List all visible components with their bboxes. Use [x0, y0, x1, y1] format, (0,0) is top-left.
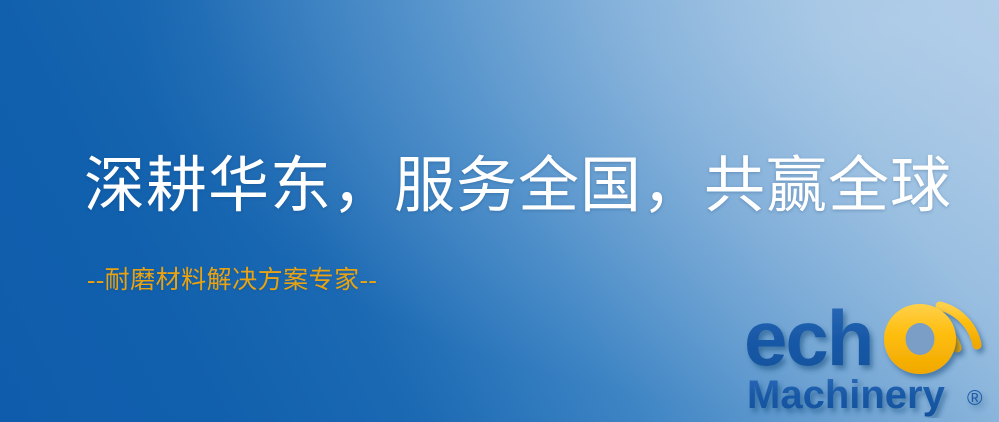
svg-text:Machinery: Machinery	[747, 373, 946, 417]
banner-headline: 深耕华东，服务全国，共赢全球	[84, 153, 952, 221]
registered-mark: ®	[967, 387, 983, 410]
svg-text:ech: ech	[744, 294, 872, 382]
banner-subtitle: --耐磨材料解决方案专家--	[87, 266, 377, 296]
promo-banner: 深耕华东，服务全国，共赢全球 --耐磨材料解决方案专家--	[0, 0, 999, 422]
echo-machinery-logo[interactable]: ech Machinery ®	[744, 288, 992, 418]
logo-wordmark: ech	[744, 294, 956, 382]
logo-tagline: Machinery ®	[747, 373, 983, 417]
